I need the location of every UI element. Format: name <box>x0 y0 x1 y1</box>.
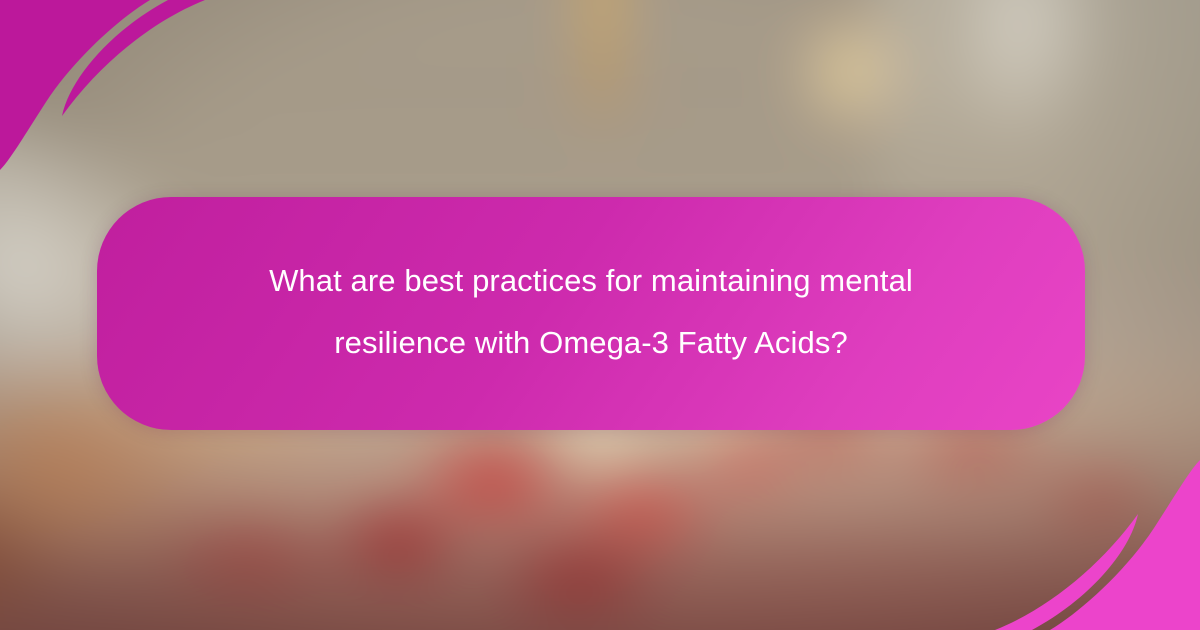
question-card: What are best practices for maintaining … <box>97 197 1085 430</box>
social-card-canvas: What are best practices for maintaining … <box>0 0 1200 630</box>
magenta-swoosh-top-left <box>0 0 260 230</box>
magenta-swoosh-bottom-right <box>940 400 1200 630</box>
question-text: What are best practices for maintaining … <box>211 250 971 374</box>
